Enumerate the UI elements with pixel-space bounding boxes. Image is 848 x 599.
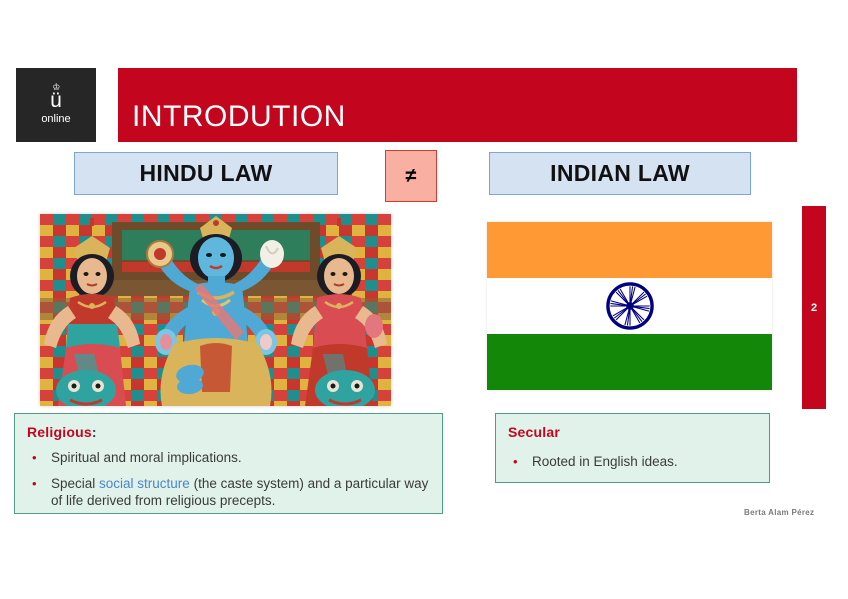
flag-band-saffron <box>487 222 772 278</box>
list-item: • Rooted in English ideas. <box>508 453 757 470</box>
bullet-text: Rooted in English ideas. <box>532 454 678 469</box>
secular-panel-heading: Secular <box>508 423 757 441</box>
logo-wordmark: online <box>41 113 70 126</box>
hindu-deity-illustration <box>40 214 391 406</box>
hindu-deity-image <box>40 214 391 406</box>
hindu-law-box[interactable]: HINDU LAW <box>74 152 338 195</box>
indian-law-label: INDIAN LAW <box>550 160 690 187</box>
brand-logo: ♔ ü online <box>16 68 96 142</box>
religious-panel-heading: Religious: <box>27 423 430 441</box>
not-equal-badge: ≠ <box>385 150 437 202</box>
bullet-icon: • <box>513 453 518 470</box>
religious-heading-colon: : <box>92 424 97 440</box>
page-number-bar: 2 <box>802 206 826 409</box>
author-credit: Berta Alam Pérez <box>744 508 814 517</box>
indian-law-box[interactable]: INDIAN LAW <box>489 152 751 195</box>
ashoka-chakra-icon <box>606 282 654 330</box>
flag-band-green <box>487 334 772 390</box>
logo-mark: ü <box>50 90 62 111</box>
list-item: • Special social structure (the caste sy… <box>27 475 430 509</box>
list-item: • Spiritual and moral implications. <box>27 449 430 466</box>
bullet-icon: • <box>32 475 37 492</box>
religious-bullet-list: • Spiritual and moral implications. • Sp… <box>27 449 430 509</box>
not-equal-icon: ≠ <box>406 165 417 188</box>
bullet-text: Spiritual and moral implications. <box>51 450 242 465</box>
page-title: INTRODUTION <box>132 100 346 134</box>
secular-bullet-list: • Rooted in English ideas. <box>508 453 757 470</box>
secular-heading-text: Secular <box>508 424 560 440</box>
bullet-text-lead: Special <box>51 476 99 491</box>
india-flag-image <box>487 222 772 390</box>
bullet-icon: • <box>32 449 37 466</box>
religious-panel: Religious: • Spiritual and moral implica… <box>14 413 443 514</box>
hindu-law-label: HINDU LAW <box>139 160 272 187</box>
page-number: 2 <box>811 302 817 314</box>
bullet-text-link: social structure <box>99 476 190 491</box>
flag-band-white <box>487 278 772 334</box>
slide-canvas: ♔ ü online INTRODUTION HINDU LAW ≠ INDIA… <box>0 0 848 599</box>
religious-heading-text: Religious <box>27 424 92 440</box>
secular-panel: Secular • Rooted in English ideas. <box>495 413 770 483</box>
